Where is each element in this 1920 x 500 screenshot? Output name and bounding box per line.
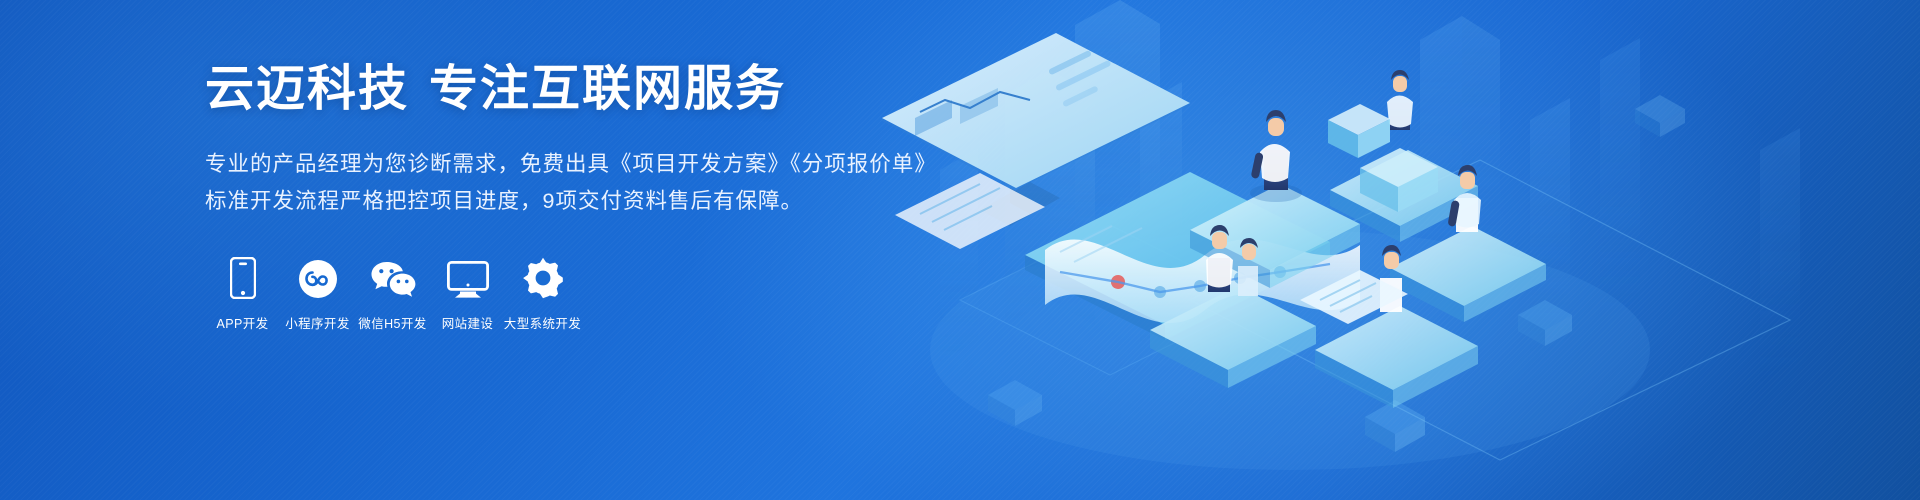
promo-banner: 云迈科技专注互联网服务 专业的产品经理为您诊断需求，免费出具《项目开发方案》《分… [0,0,1920,500]
service-item-wechat-h5[interactable]: 微信H5开发 [355,253,430,332]
pedestal-bottom-right [1315,306,1478,408]
mobile-phone-icon [230,253,256,299]
service-icon-list: APP开发 小程序开发 [205,253,965,332]
headline-tagline: 专注互联网服务 [429,62,786,116]
service-item-app[interactable]: APP开发 [205,253,280,332]
hero-illustration [860,0,1920,500]
person-standing-center [1250,110,1302,202]
isometric-scene [860,0,1920,500]
monitor-icon [447,253,489,299]
service-item-large-system[interactable]: 大型系统开发 [505,253,580,332]
service-label: APP开发 [216,313,268,332]
headline-brand: 云迈科技 [205,62,409,116]
banner-content: 云迈科技专注互联网服务 专业的产品经理为您诊断需求，免费出具《项目开发方案》《分… [205,62,965,332]
service-item-website[interactable]: 网站建设 [430,253,505,332]
service-item-mini-program[interactable]: 小程序开发 [280,253,355,332]
wechat-icon [369,253,417,299]
service-label: 网站建设 [442,313,494,332]
subtitle-line-2: 标准开发流程严格把控项目进度，9项交付资料售后有保障。 [205,184,965,219]
page-title: 云迈科技专注互联网服务 [205,62,965,117]
person-bottom-b [1238,238,1258,296]
service-label: 微信H5开发 [358,313,426,332]
mini-program-icon [298,253,338,299]
service-label: 大型系统开发 [504,313,581,332]
pedestal-lower-right [1390,226,1546,322]
floating-cube-topright [1328,104,1390,158]
subtitle-line-1: 专业的产品经理为您诊断需求，免费出具《项目开发方案》《分项报价单》 [205,147,965,182]
service-label: 小程序开发 [285,313,350,332]
gear-icon [522,253,564,299]
person-upper-right [1387,70,1413,130]
